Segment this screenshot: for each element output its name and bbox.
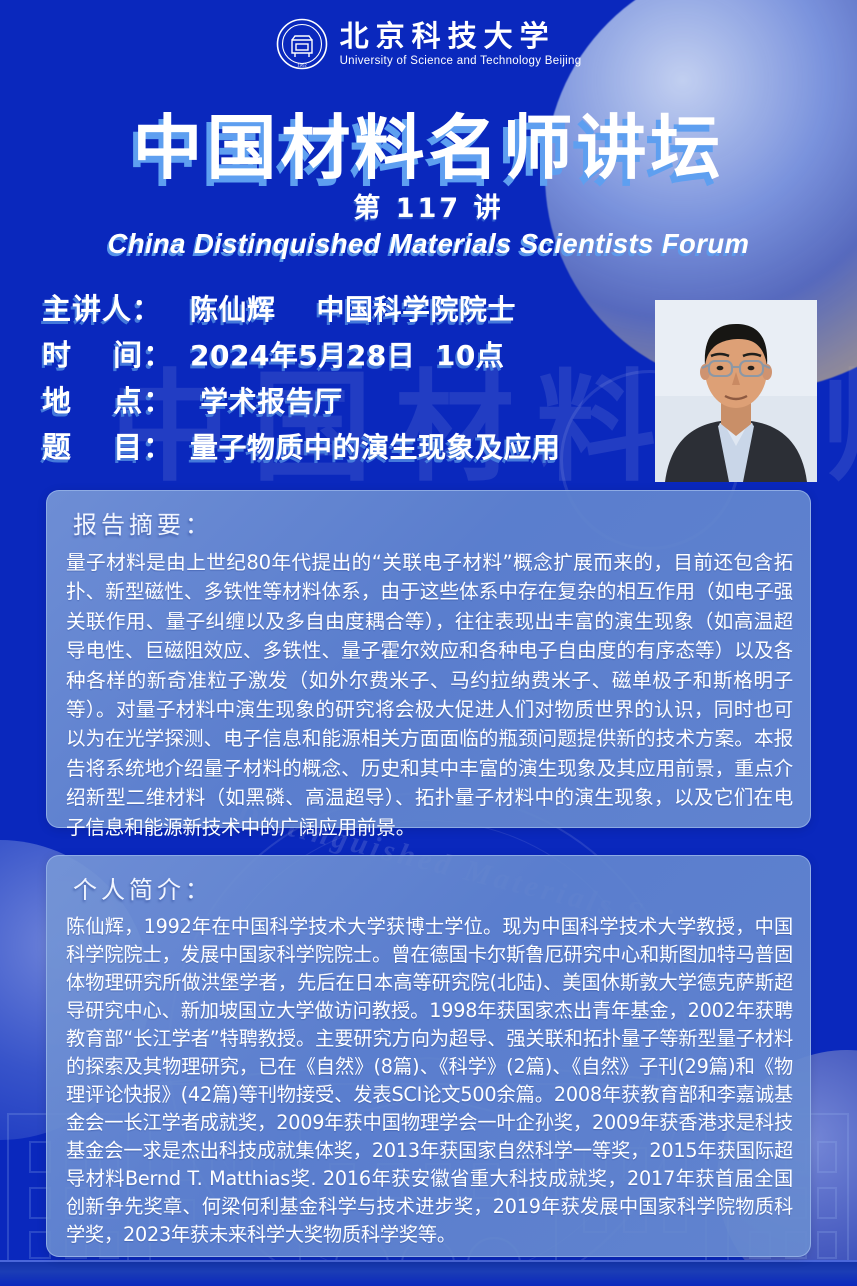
page-title: 中国材料名师讲坛: [0, 92, 857, 193]
abstract-panel: 报告摘要： 量子材料是由上世纪80年代提出的“关联电子材料”概念扩展而来的，目前…: [46, 490, 811, 828]
abstract-body: 量子材料是由上世纪80年代提出的“关联电子材料”概念扩展而来的，目前还包含拓扑、…: [47, 548, 810, 842]
poster-root: 中国材料名师讲坛 Distinguished Materials Scien: [0, 0, 857, 1286]
svg-text:1952: 1952: [297, 62, 307, 67]
info-label-speaker: 主讲人：: [42, 286, 190, 328]
info-row-venue: 地 点： 学术报告厅: [42, 378, 642, 420]
bio-heading: 个人简介：: [47, 856, 810, 913]
university-name-en: University of Science and Technology Bei…: [340, 55, 582, 67]
english-title: China Distinquished Materials Scientists…: [0, 228, 857, 260]
event-info-block: 主讲人： 陈仙辉 中国科学院院士 时 间： 2024年5月28日 10点 地 点…: [42, 286, 642, 470]
abstract-heading: 报告摘要：: [47, 491, 810, 548]
info-row-time: 时 间： 2024年5月28日 10点: [42, 332, 642, 374]
bottom-band: [0, 1260, 857, 1286]
university-logo-row: 1952 北京科技大学 University of Science and Te…: [0, 18, 857, 70]
info-label-time: 时 间：: [42, 332, 190, 374]
info-row-topic: 题 目： 量子物质中的演生现象及应用: [42, 424, 642, 466]
speaker-portrait-photo: [655, 300, 817, 482]
info-value-topic: 量子物质中的演生现象及应用: [190, 426, 561, 466]
ustb-seal-icon: 1952: [276, 18, 328, 70]
bio-panel: 个人简介： 陈仙辉，1992年在中国科学技术大学获博士学位。现为中国科学技术大学…: [46, 855, 811, 1257]
info-value-venue: 学术报告厅: [190, 380, 343, 420]
info-value-time: 2024年5月28日 10点: [190, 334, 504, 374]
bio-body: 陈仙辉，1992年在中国科学技术大学获博士学位。现为中国科学技术大学教授，中国科…: [47, 913, 810, 1249]
info-value-speaker: 陈仙辉 中国科学院院士: [190, 288, 516, 328]
info-label-venue: 地 点：: [42, 378, 190, 420]
info-row-speaker: 主讲人： 陈仙辉 中国科学院院士: [42, 286, 642, 328]
info-label-topic: 题 目：: [42, 424, 190, 466]
lecture-number: 第 117 讲: [0, 186, 857, 225]
university-name-cn: 北京科技大学: [340, 21, 556, 51]
